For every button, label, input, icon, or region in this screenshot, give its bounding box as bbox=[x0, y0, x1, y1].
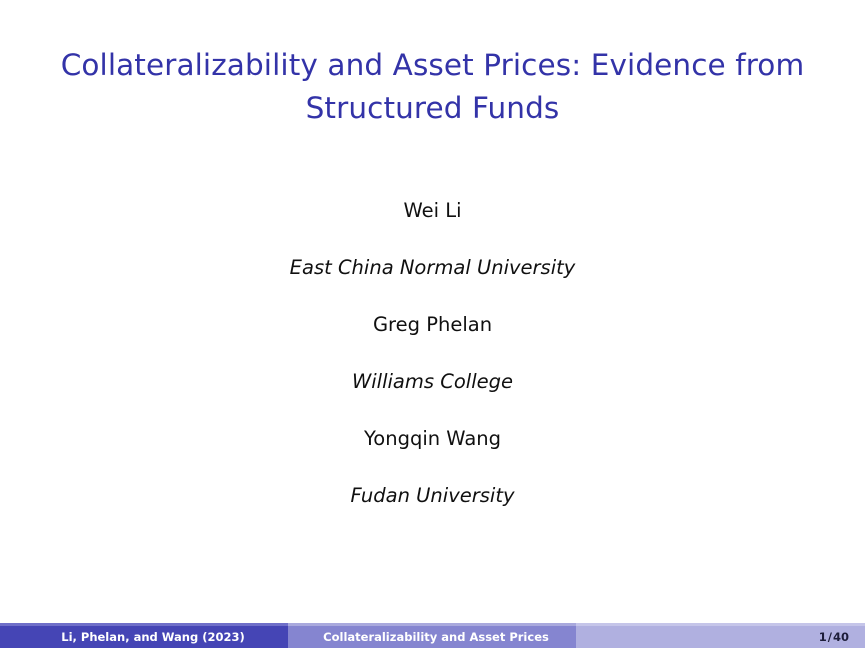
footline-page-indicator: 1 / 40 bbox=[576, 626, 865, 648]
author-name-3: Yongqin Wang bbox=[0, 410, 865, 467]
author-name-2: Greg Phelan bbox=[0, 296, 865, 353]
author-affiliation-2: Williams College bbox=[0, 353, 865, 410]
author-name-1: Wei Li bbox=[0, 182, 865, 239]
footline-current-page: 1 bbox=[819, 630, 827, 644]
author-affiliation-1: East China Normal University bbox=[0, 239, 865, 296]
title-block: Collateralizability and Asset Prices: Ev… bbox=[0, 44, 865, 130]
slide-title-line-1: Collateralizability and Asset Prices: Ev… bbox=[0, 44, 865, 87]
footline-author: Li, Phelan, and Wang (2023) bbox=[0, 626, 288, 648]
footline-total-pages: 40 bbox=[833, 630, 849, 644]
slide-title-line-2: Structured Funds bbox=[0, 87, 865, 130]
footline: Li, Phelan, and Wang (2023) Collateraliz… bbox=[0, 626, 865, 648]
authors-block: Wei Li East China Normal University Greg… bbox=[0, 182, 865, 524]
presentation-slide: Collateralizability and Asset Prices: Ev… bbox=[0, 0, 865, 648]
author-affiliation-3: Fudan University bbox=[0, 467, 865, 524]
footline-title: Collateralizability and Asset Prices bbox=[288, 626, 576, 648]
